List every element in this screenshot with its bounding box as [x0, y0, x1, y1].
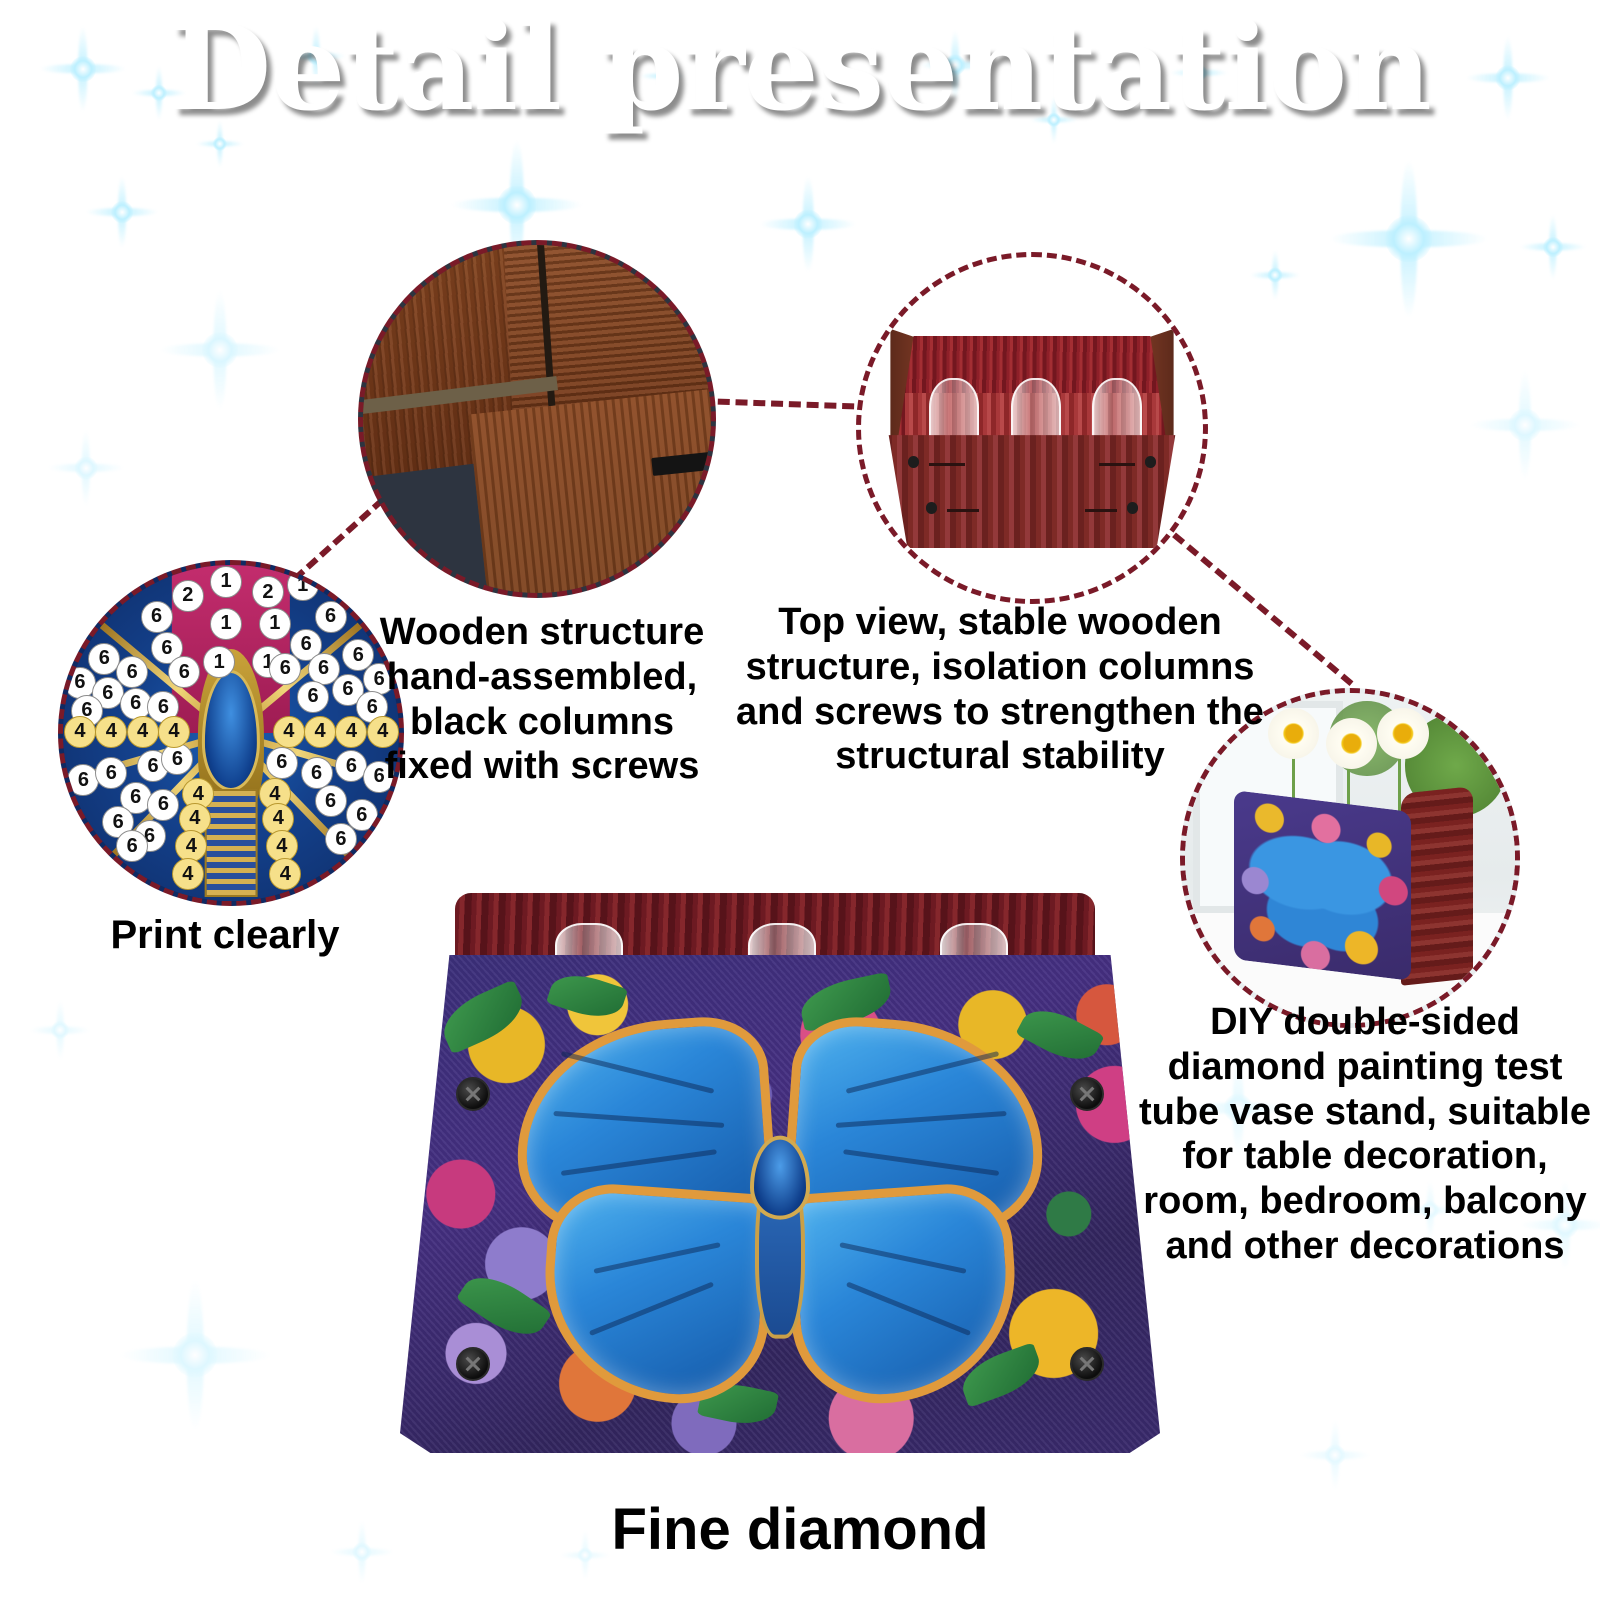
drill-number: 1 [287, 569, 319, 601]
screw-icon [1145, 456, 1156, 467]
drill-number: 6 [315, 785, 347, 817]
screw-icon [1070, 1077, 1104, 1111]
test-tube [1092, 378, 1142, 442]
drill-number: 4 [127, 716, 159, 748]
butterfly-panel-small [1234, 790, 1411, 980]
drill-number: 6 [266, 747, 298, 779]
drill-number: 6 [147, 789, 179, 821]
caption-wooden-structure: Wooden structure hand-assembled, black c… [372, 610, 712, 789]
screw-icon [456, 1077, 490, 1111]
screw-icon [926, 502, 937, 513]
daisy-flower [1326, 718, 1377, 769]
drill-number: 6 [269, 653, 301, 685]
drill-number: 4 [304, 716, 336, 748]
drill-number: 4 [335, 716, 367, 748]
drill-number: 6 [141, 601, 173, 633]
column-slit [1099, 463, 1134, 466]
column-slit [929, 463, 964, 466]
drill-number: 4 [95, 716, 127, 748]
caption-fine-diamond: Fine diamond [0, 1496, 1600, 1564]
caption-diy-usage: DIY double-sided diamond painting test t… [1135, 1000, 1595, 1269]
wing-lower-right [783, 1180, 1023, 1409]
callout-top-view-photo [856, 252, 1208, 604]
drill-number: 1 [210, 566, 242, 598]
drill-number: 1 [259, 608, 291, 640]
topview-front-panel [876, 435, 1188, 548]
screw-icon [908, 456, 919, 467]
callout-print-clearly-photo: 2 1 2 1 1 1 1 1 6 6 6 6 6 6 6 6 6 6 6 6 … [58, 560, 404, 906]
main-product-image [400, 893, 1160, 1453]
callout-wooden-structure-photo [358, 240, 716, 598]
drill-number: 2 [172, 580, 204, 612]
drill-number: 4 [64, 716, 96, 748]
drill-number: 4 [172, 858, 204, 890]
column-slit [947, 509, 979, 512]
wood-side-panel [1401, 786, 1473, 985]
drill-number: 4 [273, 716, 305, 748]
butterfly-abdomen [205, 789, 258, 897]
caption-top-view: Top view, stable wooden structure, isola… [720, 600, 1280, 779]
infographic-page: Detail presentation [0, 0, 1600, 1600]
drill-number: 1 [203, 646, 235, 678]
drill-number: 6 [297, 681, 329, 713]
page-title: Detail presentation [0, 6, 1600, 130]
wood-front-panel [469, 381, 716, 598]
drill-number: 6 [315, 601, 347, 633]
butterfly-figure [500, 1022, 1060, 1402]
daisy-flower [1377, 708, 1428, 759]
drill-number: 1 [210, 608, 242, 640]
screw-icon [456, 1347, 490, 1381]
product-in-room [1234, 790, 1473, 982]
test-tube [929, 378, 979, 442]
drill-number: 4 [158, 716, 190, 748]
butterfly-diamond-panel [400, 955, 1160, 1453]
screw-icon [1070, 1347, 1104, 1381]
column-slit [1085, 509, 1117, 512]
test-tube [1011, 378, 1061, 442]
screw-icon [1127, 502, 1138, 513]
caption-print-clearly: Print clearly [60, 912, 390, 959]
wing-lower-left [537, 1180, 777, 1409]
